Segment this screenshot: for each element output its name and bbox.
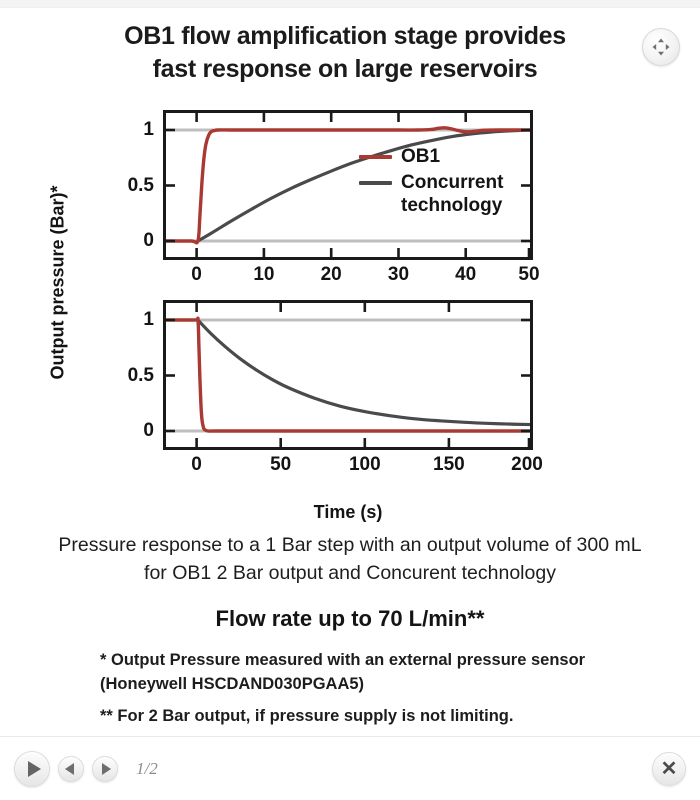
x-tick-top-30: 30 bbox=[388, 264, 409, 286]
next-button[interactable] bbox=[92, 756, 118, 782]
title-line-2: fast response on large reservoirs bbox=[60, 53, 630, 86]
flow-rate-statement: Flow rate up to 70 L/min** bbox=[0, 606, 700, 632]
play-button[interactable] bbox=[14, 751, 50, 787]
y-tick-bottom-0: 0 bbox=[143, 420, 163, 442]
x-tick-bottom-50: 50 bbox=[270, 454, 291, 476]
caption-line-2: for OB1 2 Bar output and Concurent techn… bbox=[10, 560, 690, 588]
x-tick-top-0: 0 bbox=[191, 264, 202, 286]
play-icon bbox=[28, 761, 41, 777]
page-title: OB1 flow amplification stage provides fa… bbox=[60, 20, 630, 85]
close-icon: ✕ bbox=[661, 759, 678, 779]
caption-line-1: Pressure response to a 1 Bar step with a… bbox=[10, 532, 690, 560]
figure-caption: Pressure response to a 1 Bar step with a… bbox=[10, 532, 690, 587]
x-tick-bottom-100: 100 bbox=[349, 454, 381, 476]
x-tick-bottom-150: 150 bbox=[433, 454, 465, 476]
y-tick-top-0.5: 0.5 bbox=[128, 175, 163, 197]
player-toolbar: 1/2 ✕ bbox=[0, 736, 700, 800]
legend-swatch-ob1 bbox=[359, 155, 392, 159]
figure: Output pressure (Bar)* bbox=[0, 104, 700, 529]
x-tick-top-10: 10 bbox=[253, 264, 274, 286]
previous-button[interactable] bbox=[58, 756, 84, 782]
x-tick-top-50: 50 bbox=[518, 264, 539, 286]
chart-legend: OB1 Concurrent technology bbox=[359, 146, 529, 221]
expand-arrows-icon[interactable] bbox=[642, 28, 680, 66]
x-tick-top-20: 20 bbox=[321, 264, 342, 286]
y-axis-label: Output pressure (Bar)* bbox=[48, 133, 69, 433]
x-tick-bottom-200: 200 bbox=[511, 454, 543, 476]
chart-step-down: 1 0.5 0 0 50 100 150 200 bbox=[163, 300, 533, 450]
legend-swatch-concurrent bbox=[359, 181, 392, 185]
x-tick-bottom-0: 0 bbox=[191, 454, 202, 476]
y-tick-top-1: 1 bbox=[143, 119, 163, 141]
slide-viewer: OB1 flow amplification stage provides fa… bbox=[0, 0, 700, 800]
viewer-top-strip bbox=[0, 0, 700, 8]
footnote-1: * Output Pressure measured with an exter… bbox=[100, 648, 640, 697]
y-tick-top-0: 0 bbox=[143, 230, 163, 252]
legend-item-concurrent: Concurrent technology bbox=[359, 172, 529, 217]
y-tick-bottom-1: 1 bbox=[143, 309, 163, 331]
x-tick-top-40: 40 bbox=[455, 264, 476, 286]
previous-icon bbox=[65, 763, 74, 775]
legend-item-ob1: OB1 bbox=[359, 146, 529, 168]
footnote-2: ** For 2 Bar output, if pressure supply … bbox=[100, 704, 640, 728]
x-axis-label: Time (s) bbox=[163, 502, 533, 523]
close-button[interactable]: ✕ bbox=[652, 752, 686, 786]
slide-canvas: OB1 flow amplification stage provides fa… bbox=[0, 8, 700, 736]
footnotes: * Output Pressure measured with an exter… bbox=[100, 648, 640, 728]
legend-label-ob1: OB1 bbox=[401, 146, 440, 168]
title-line-1: OB1 flow amplification stage provides bbox=[60, 20, 630, 53]
legend-label-concurrent: Concurrent technology bbox=[401, 172, 529, 217]
chart-step-down-svg bbox=[163, 300, 533, 450]
chart-step-up: 1 0.5 0 0 10 20 30 40 50 OB1 Concurrent … bbox=[163, 110, 533, 260]
y-tick-bottom-0.5: 0.5 bbox=[128, 365, 163, 387]
next-icon bbox=[102, 763, 111, 775]
page-counter: 1/2 bbox=[136, 759, 158, 779]
